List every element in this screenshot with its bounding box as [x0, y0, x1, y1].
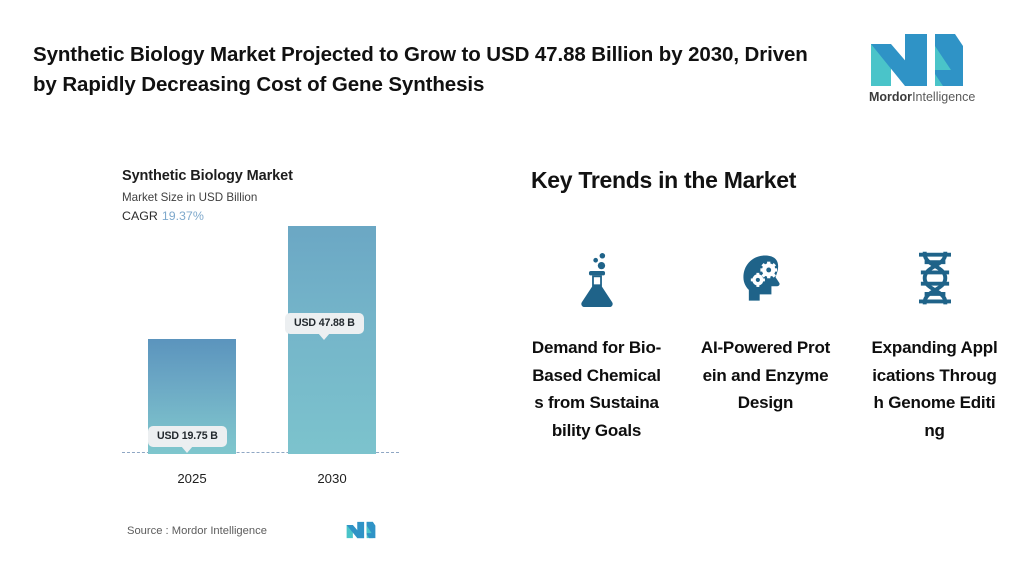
source-text: Source : Mordor Intelligence [127, 525, 267, 537]
bar-2030 [288, 226, 376, 454]
page-title: Synthetic Biology Market Projected to Gr… [33, 40, 833, 99]
x-axis-label-2030: 2030 [288, 471, 376, 486]
trends-title: Key Trends in the Market [531, 167, 796, 194]
bar-chart-plot: USD 19.75 B USD 47.88 B 2025 2030 [122, 224, 422, 494]
brand-logo: MordorIntelligence [869, 32, 965, 110]
cagr-label: CAGR [122, 209, 158, 223]
infographic-page: Synthetic Biology Market Projected to Gr… [0, 0, 1029, 570]
chart-subtitle: Market Size in USD Billion [122, 191, 422, 204]
cagr-value: 19.37% [162, 209, 204, 223]
trend-caption-1: Demand for Bio-Based Chemicals from Sust… [532, 334, 662, 444]
chart-cagr: CAGR19.37% [122, 209, 422, 223]
flask-icon [569, 248, 625, 310]
trend-item-1: Demand for Bio-Based Chemicals from Sust… [512, 248, 681, 444]
mordor-intelligence-logo-icon [869, 32, 965, 88]
chart-panel: Synthetic Biology Market Market Size in … [122, 168, 422, 548]
bar-value-label-2025: USD 19.75 B [148, 426, 227, 447]
x-axis-label-2025: 2025 [148, 471, 236, 486]
trend-item-3: Expanding Applications Through Genome Ed… [850, 248, 1019, 444]
mordor-intelligence-mark-icon [346, 521, 376, 539]
dna-helix-icon [907, 248, 963, 310]
chart-title: Synthetic Biology Market [122, 168, 422, 184]
chart-source: Source : Mordor Intelligence [127, 525, 407, 537]
trend-item-2: AI-Powered Protein and Enzyme Design [681, 248, 850, 444]
trend-caption-3: Expanding Applications Through Genome Ed… [870, 334, 1000, 444]
trend-caption-2: AI-Powered Protein and Enzyme Design [701, 334, 831, 417]
brand-word-bold: Mordor [869, 90, 912, 104]
brand-word-light: Intelligence [912, 90, 975, 104]
trends-row: Demand for Bio-Based Chemicals from Sust… [512, 248, 1020, 444]
bar-value-label-2030: USD 47.88 B [285, 313, 364, 334]
brand-wordmark: MordorIntelligence [869, 91, 965, 104]
head-gears-icon [738, 248, 794, 310]
